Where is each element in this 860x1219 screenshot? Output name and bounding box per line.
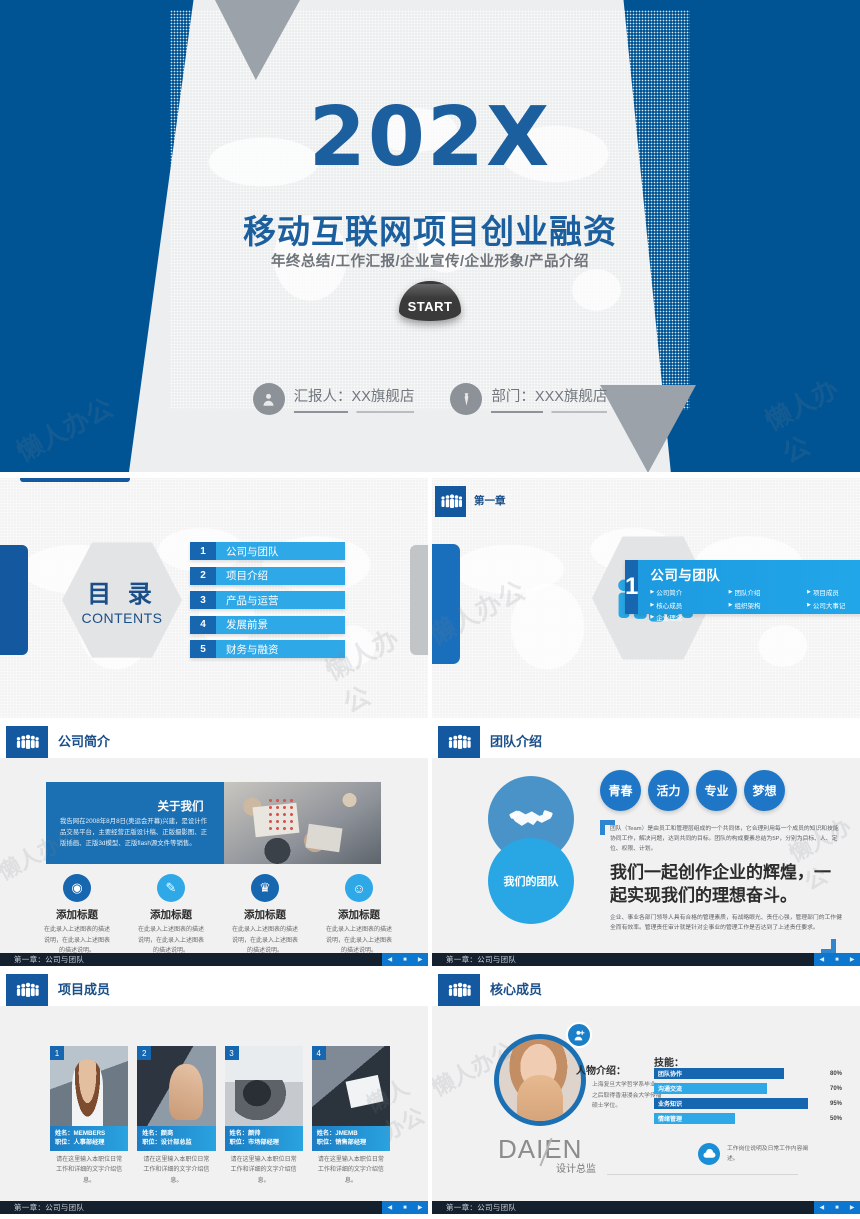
cover-reporter-text: 汇报人：XX旗舰店 <box>294 385 415 413</box>
next-icon[interactable]: ▶ <box>850 1204 855 1211</box>
member-card[interactable]: 2 姓名：颜商 职位：设计部总监 请在这里输入本职位日常工作和详细的文字介绍信息… <box>137 1046 215 1186</box>
banner-text: 我告网在2008年8月8日(奥运会开幕)兴建，是设计作品交易平台，主要经营正版设… <box>60 816 207 850</box>
slide-core-member[interactable]: 核心成员 人物介绍： 上海复旦大学哲学系毕业，之后取得香港浸会大学传播硕士学位。… <box>432 974 860 1214</box>
feature-title: 添加标题 <box>124 907 218 922</box>
skill-label: 团队协作 <box>658 1069 682 1078</box>
member-caption: 姓名：颜帅 职位：市场部经理 <box>225 1126 303 1151</box>
chapter-item-label: 团队介绍 <box>735 587 761 597</box>
toc-label: 项目介绍 <box>216 567 345 585</box>
team-body: 团队（Team）是由员工和管理层组成的一个共同体，它合理利用每一个成员的知识和技… <box>610 824 842 934</box>
member-desc: 请在这里输入本职位日常工作和详细的文字介绍信息。 <box>50 1151 128 1187</box>
contents-title-en: CONTENTS <box>82 610 163 626</box>
next-icon[interactable]: ▶ <box>418 1204 423 1211</box>
smile-icon: ☺ <box>345 874 373 902</box>
cover-department: 部门：XXX旗舰店 <box>450 383 607 415</box>
team-circle-label: 我们的团队 <box>488 838 574 924</box>
member-card-row: 1 姓名：MEMBERS 职位：人事部经理 请在这里输入本职位日常工作和详细的文… <box>50 1046 390 1186</box>
skill-label: 情绪管理 <box>658 1114 682 1123</box>
skill-bar-fill: 情绪管理 <box>654 1113 735 1124</box>
slide-footer: 第一章：公司与团队 ◀ ■ ▶ <box>0 953 428 966</box>
list-item[interactable]: 4 发展前景 <box>190 616 345 634</box>
list-item[interactable]: ▶企业理念 <box>650 612 728 622</box>
feature-title: 添加标题 <box>218 907 312 922</box>
feature-column[interactable]: ☺ 添加标题 在此录入上述图表的描述说明，在此录入上述图表的描述说明。 <box>312 874 406 957</box>
people-group-icon <box>438 726 480 758</box>
shield-icon: ♛ <box>251 874 279 902</box>
skill-bar-track: 沟通交流 <box>654 1083 816 1094</box>
member-card[interactable]: 3 姓名：颜帅 职位：市场部经理 请在这里输入本职位日常工作和详细的文字介绍信息… <box>225 1046 303 1186</box>
footer-nav[interactable]: ◀ ■ ▶ <box>814 1201 860 1214</box>
slide-project-members[interactable]: 项目成员 1 姓名：MEMBERS 职位：人事部经理 请在这里输入本职位日常工作… <box>0 974 428 1214</box>
member-photo: 4 <box>312 1046 390 1126</box>
skill-bar-track: 业务知识 <box>654 1098 816 1109</box>
footer-text: 第一章：公司与团队 <box>14 954 84 965</box>
banner-title: 关于我们 <box>46 798 214 814</box>
list-item[interactable]: ▶组织架构 <box>729 600 807 610</box>
slide-footer: 第一章：公司与团队 ◀ ■ ▶ <box>432 953 860 966</box>
prev-icon[interactable]: ◀ <box>388 1204 393 1211</box>
toc-number: 5 <box>190 640 216 658</box>
start-button[interactable]: START <box>399 281 461 321</box>
skill-bar-row: 情绪管理 50% <box>654 1113 842 1124</box>
toc-number: 4 <box>190 616 216 634</box>
cloud-icon <box>698 1143 720 1165</box>
feature-column[interactable]: ◉ 添加标题 在此录入上述图表的描述说明，在此录入上述图表的描述说明。 <box>30 874 124 957</box>
chapter-item-label: 组织架构 <box>735 600 761 610</box>
slide-header: 公司简介 <box>0 726 428 758</box>
list-item[interactable]: 1 公司与团队 <box>190 542 345 560</box>
footer-text: 第一章：公司与团队 <box>446 1202 516 1213</box>
skill-bar-track: 团队协作 <box>654 1068 816 1079</box>
toc-number: 3 <box>190 591 216 609</box>
slide-company-profile[interactable]: 公司简介 关于我们 我告网在2008年8月8日(奥运会开幕)兴建，是设计作品交易… <box>0 726 428 966</box>
member-photo: 1 <box>50 1046 128 1126</box>
member-card[interactable]: 4 姓名：JMEMB 职位：销售部经理 请在这里输入本职位日常工作和详细的文字介… <box>312 1046 390 1186</box>
feature-text: 在此录入上述图表的描述说明，在此录入上述图表的描述说明。 <box>124 925 218 957</box>
presentation-thumbnail-grid: 202X 移动互联网项目创业融资 年终总结/工作汇报/企业宣传/企业形象/产品介… <box>0 0 860 1219</box>
team-paragraph-bottom: 企业、事业各部门领导人具有合格的管理素质，有战略眼光、责任心强，管理部门的工作健… <box>610 913 842 933</box>
member-name: 姓名：颜帅 <box>230 1129 298 1138</box>
slide-header: 项目成员 <box>0 974 428 1006</box>
next-icon[interactable]: ▶ <box>850 956 855 963</box>
member-number: 3 <box>225 1046 239 1060</box>
footer-nav[interactable]: ◀ ■ ▶ <box>382 953 428 966</box>
slide-chapter-divider[interactable]: 第一章 1 公司与团队 ▶公司简介 ▶团队介绍 ▶项目成员 ▶核心成员 ▶组织 <box>432 478 860 718</box>
member-name: 姓名：JMEMB <box>317 1129 385 1138</box>
person-role: 设计总监 <box>556 1160 596 1175</box>
feature-column[interactable]: ♛ 添加标题 在此录入上述图表的描述说明，在此录入上述图表的描述说明。 <box>218 874 312 957</box>
intro-text: 上海复旦大学哲学系毕业，之后取得香港浸会大学传播硕士学位。 <box>592 1080 662 1112</box>
banner-paper-2 <box>306 824 343 852</box>
page-title: 项目成员 <box>58 974 110 1006</box>
chapter-item-list: ▶公司简介 ▶团队介绍 ▶项目成员 ▶核心成员 ▶组织架构 ▶公司大事记 ▶企业… <box>650 587 860 625</box>
triangle-right-icon: ▶ <box>650 614 654 620</box>
prev-icon[interactable]: ◀ <box>820 956 825 963</box>
skill-bar-track: 情绪管理 <box>654 1113 816 1124</box>
member-number: 1 <box>50 1046 64 1060</box>
slide-team-intro[interactable]: 团队介绍 我们的团队 青春 活力 专业 梦想 团队（Team）是由员工和管理层组… <box>432 726 860 966</box>
member-caption: 姓名：JMEMB 职位：销售部经理 <box>312 1126 390 1151</box>
prev-icon[interactable]: ◀ <box>820 1204 825 1211</box>
feature-text: 在此录入上述图表的描述说明，在此录入上述图表的描述说明。 <box>30 925 124 957</box>
member-caption: 姓名：颜商 职位：设计部总监 <box>137 1126 215 1151</box>
home-icon[interactable]: ■ <box>835 1205 839 1211</box>
people-group-icon <box>438 974 480 1006</box>
edit-note-icon: ✎ <box>157 874 185 902</box>
skill-value: 80% <box>816 1071 842 1077</box>
chapter-side-bar <box>432 544 460 664</box>
member-role: 职位：市场部经理 <box>230 1138 298 1147</box>
people-group-icon <box>6 974 48 1006</box>
home-icon[interactable]: ■ <box>835 957 839 963</box>
skill-bar-fill: 团队协作 <box>654 1068 784 1079</box>
chapter-label: 第一章 <box>474 493 506 508</box>
footer-nav[interactable]: ◀ ■ ▶ <box>382 1201 428 1214</box>
skill-label: 沟通交流 <box>658 1084 682 1093</box>
page-title: 核心成员 <box>490 974 542 1006</box>
footer-text: 第一章：公司与团队 <box>14 1202 84 1213</box>
banner-photo <box>224 782 381 864</box>
triangle-right-icon: ▶ <box>650 589 654 595</box>
contents-left-bar <box>0 545 28 655</box>
feature-text: 在此录入上述图表的描述说明，在此录入上述图表的描述说明。 <box>218 925 312 957</box>
member-photo: 2 <box>137 1046 215 1126</box>
person-icon <box>253 383 285 415</box>
triangle-right-icon: ▶ <box>729 602 733 608</box>
slide-footer: 第一章：公司与团队 ◀ ■ ▶ <box>432 1201 860 1214</box>
skill-bar-row: 业务知识 95% <box>654 1098 842 1109</box>
feature-title: 添加标题 <box>312 907 406 922</box>
toc-label: 发展前景 <box>216 616 345 634</box>
skill-bar-fill: 沟通交流 <box>654 1083 767 1094</box>
cloud-text: 工作岗位说明及日常工作内容阐述。 <box>727 1144 819 1165</box>
intro-label: 人物介绍： <box>576 1062 626 1077</box>
prev-icon[interactable]: ◀ <box>388 956 393 963</box>
company-feature-columns: ◉ 添加标题 在此录入上述图表的描述说明，在此录入上述图表的描述说明。 ✎ 添加… <box>30 874 406 957</box>
skill-label: 业务知识 <box>658 1099 682 1108</box>
member-desc: 请在这里输入本职位日常工作和详细的文字介绍信息。 <box>312 1151 390 1187</box>
avatar <box>494 1034 586 1126</box>
cover-department-text: 部门：XXX旗舰店 <box>491 385 607 413</box>
contents-title-cn: 目 录 <box>87 574 157 609</box>
skill-bar-row: 沟通交流 70% <box>654 1083 842 1094</box>
skills-label: 技能： <box>654 1054 684 1069</box>
list-item[interactable]: 5 财务与融资 <box>190 640 345 658</box>
list-item[interactable]: ▶公司简介 <box>650 587 728 597</box>
toc-number: 1 <box>190 542 216 560</box>
skill-bar-chart: 团队协作 80% 沟通交流 70% 业务知识 9 <box>654 1068 842 1128</box>
member-name: 姓名：颜商 <box>142 1129 210 1138</box>
chapter-item-label: 公司简介 <box>656 587 682 597</box>
banner-sticky-notes <box>267 797 297 833</box>
horizontal-rule <box>607 1174 798 1175</box>
member-name: 姓名：MEMBERS <box>55 1129 123 1138</box>
people-group-icon <box>435 486 466 517</box>
member-card[interactable]: 1 姓名：MEMBERS 职位：人事部经理 请在这里输入本职位日常工作和详细的文… <box>50 1046 128 1186</box>
skill-value: 95% <box>816 1101 842 1107</box>
keyword-pill[interactable]: 活力 <box>648 770 689 811</box>
team-paragraph-top: 团队（Team）是由员工和管理层组成的一个共同体，它合理利用每一个成员的知识和技… <box>610 824 842 854</box>
list-item[interactable]: 2 项目介绍 <box>190 567 345 585</box>
toc-label: 产品与运营 <box>216 591 345 609</box>
toc-label: 财务与融资 <box>216 640 345 658</box>
member-role: 职位：人事部经理 <box>55 1138 123 1147</box>
chapter-card-body: 公司与团队 ▶公司简介 ▶团队介绍 ▶项目成员 ▶核心成员 ▶组织架构 ▶公司大… <box>638 560 860 614</box>
cover-meta-row: 汇报人：XX旗舰店 部门：XXX旗舰店 <box>0 383 860 415</box>
feature-text: 在此录入上述图表的描述说明，在此录入上述图表的描述说明。 <box>312 925 406 957</box>
quote-bracket-top-left-icon <box>600 820 615 835</box>
skill-bar-fill: 业务知识 <box>654 1098 808 1109</box>
people-group-icon <box>6 726 48 758</box>
next-icon[interactable]: ▶ <box>418 956 423 963</box>
member-desc: 请在这里输入本职位日常工作和详细的文字介绍信息。 <box>137 1151 215 1187</box>
member-desc: 请在这里输入本职位日常工作和详细的文字介绍信息。 <box>225 1151 303 1187</box>
member-caption: 姓名：MEMBERS 职位：人事部经理 <box>50 1126 128 1151</box>
toc-label: 公司与团队 <box>216 542 345 560</box>
chapter-item-label: 项目成员 <box>813 587 839 597</box>
chapter-item-label: 公司大事记 <box>813 600 846 610</box>
member-photo: 3 <box>225 1046 303 1126</box>
page-title: 公司简介 <box>58 726 110 758</box>
contents-list: 1 公司与团队 2 项目介绍 3 产品与运营 4 发展前景 5 财务与融资 <box>190 542 345 665</box>
team-keyword-pills: 青春 活力 专业 梦想 <box>600 770 785 811</box>
triangle-right-icon: ▶ <box>807 589 811 595</box>
cover-title: 移动互联网项目创业融资 <box>0 205 860 253</box>
member-number: 4 <box>312 1046 326 1060</box>
chapter-number: 1 <box>625 560 638 614</box>
keyword-pill[interactable]: 青春 <box>600 770 641 811</box>
triangle-right-icon: ▶ <box>807 602 811 608</box>
member-role: 职位：销售部经理 <box>317 1138 385 1147</box>
skill-value: 50% <box>816 1116 842 1122</box>
triangle-right-icon: ▶ <box>650 602 654 608</box>
chapter-title: 公司与团队 <box>650 564 860 584</box>
team-headline: 我们一起创作企业的辉煌，一起实现我们的理想奋斗。 <box>610 862 842 907</box>
keyword-pill[interactable]: 梦想 <box>744 770 785 811</box>
slide-cover[interactable]: 202X 移动互联网项目创业融资 年终总结/工作汇报/企业宣传/企业形象/产品介… <box>0 0 860 472</box>
chapter-item-label: 企业理念 <box>656 612 682 622</box>
toc-number: 2 <box>190 567 216 585</box>
footer-text: 第一章：公司与团队 <box>446 954 516 965</box>
chapter-item-label: 核心成员 <box>656 600 682 610</box>
member-role: 职位：设计部总监 <box>142 1138 210 1147</box>
cover-reporter: 汇报人：XX旗舰店 <box>253 383 415 415</box>
feature-column[interactable]: ✎ 添加标题 在此录入上述图表的描述说明，在此录入上述图表的描述说明。 <box>124 874 218 957</box>
tie-icon <box>450 383 482 415</box>
list-item[interactable]: ▶核心成员 <box>650 600 728 610</box>
contents-hexagon: 目 录 CONTENTS <box>62 540 182 660</box>
feature-title: 添加标题 <box>30 907 124 922</box>
skill-bar-row: 团队协作 80% <box>654 1068 842 1079</box>
cover-year: 202X <box>0 90 860 185</box>
page-title: 团队介绍 <box>490 726 542 758</box>
list-item[interactable]: ▶团队介绍 <box>729 587 807 597</box>
slide-header: 核心成员 <box>432 974 860 1006</box>
member-number: 2 <box>137 1046 151 1060</box>
list-item[interactable]: 3 产品与运营 <box>190 591 345 609</box>
triangle-right-icon: ▶ <box>729 589 733 595</box>
list-item[interactable]: ▶公司大事记 <box>807 600 860 610</box>
compass-icon: ◉ <box>63 874 91 902</box>
home-icon[interactable]: ■ <box>403 1205 407 1211</box>
cover-subtitle: 年终总结/工作汇报/企业宣传/企业形象/产品介绍 <box>0 250 860 271</box>
contents-top-tab <box>20 478 130 482</box>
slide-header: 团队介绍 <box>432 726 860 758</box>
footer-nav[interactable]: ◀ ■ ▶ <box>814 953 860 966</box>
keyword-pill[interactable]: 专业 <box>696 770 737 811</box>
quote-bracket-bottom-right-icon <box>821 939 836 954</box>
person-add-icon <box>566 1022 592 1048</box>
slide-footer: 第一章：公司与团队 ◀ ■ ▶ <box>0 1201 428 1214</box>
company-banner-image: 关于我们 我告网在2008年8月8日(奥运会开幕)兴建，是设计作品交易平台，主要… <box>46 782 381 864</box>
chapter-card: 1 公司与团队 ▶公司简介 ▶团队介绍 ▶项目成员 ▶核心成员 ▶组织架构 ▶公… <box>625 560 860 614</box>
home-icon[interactable]: ■ <box>403 957 407 963</box>
list-item[interactable]: ▶项目成员 <box>807 587 860 597</box>
contents-right-bar <box>410 545 428 655</box>
slide-contents[interactable]: 目 录 CONTENTS 1 公司与团队 2 项目介绍 3 产品与运营 4 发展… <box>0 478 428 718</box>
skill-value: 70% <box>816 1086 842 1092</box>
